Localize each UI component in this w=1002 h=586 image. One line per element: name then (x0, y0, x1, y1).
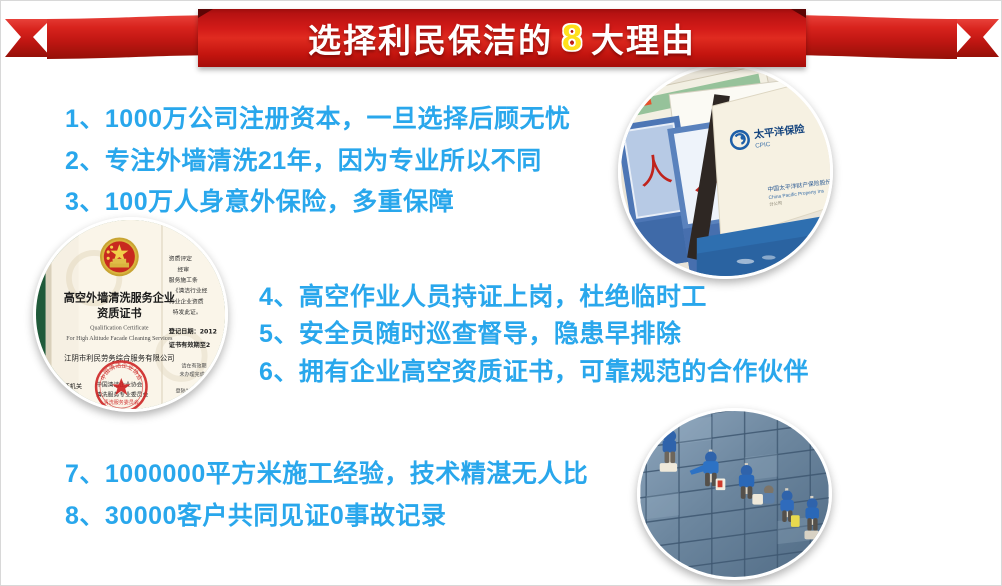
banner-title-number: 8 (557, 17, 587, 59)
banner-title-suffix: 大理由 (591, 14, 696, 62)
benefit-index-8: 8、 (65, 502, 105, 530)
title-banner: 选择利民保洁的 8 大理由 (1, 5, 1002, 77)
svg-text:行业企业资质: 行业企业资质 (169, 297, 204, 305)
svg-text:证书有效期至2: 证书有效期至2 (169, 341, 210, 349)
svg-text:发证机关: 发证机关 (57, 383, 82, 391)
photo-insurance-documents: 人 人 太平洋保险 CPIC 中国太平洋财产保险股份 (618, 64, 833, 279)
benefit-item-7: 7、1000000平方米施工经验，技术精湛无人比 (65, 454, 588, 490)
benefit-item-6: 6、拥有企业高空资质证书，可靠规范的合作伙伴 (259, 352, 809, 388)
svg-text:经审: 经审 (178, 265, 190, 273)
benefit-index-4: 4、 (259, 283, 299, 311)
benefit-index-3: 3、 (65, 188, 105, 216)
benefit-item-5: 5、安全员随时巡查督导，隐患早排除 (259, 314, 681, 350)
svg-text:Qualification Certificate: Qualification Certificate (90, 325, 149, 332)
svg-text:资质评定: 资质评定 (169, 255, 192, 263)
benefit-text-7: 1000000平方米施工经验，技术精湛无人比 (105, 460, 588, 488)
svg-text:For High Altitude Facade Clean: For High Altitude Facade Cleaning Servic… (66, 336, 173, 342)
benefit-item-8: 8、30000客户共同见证0事故记录 (65, 496, 446, 532)
benefit-text-1: 1000万公司注册资本，一旦选择后顾无忧 (105, 105, 571, 133)
benefit-index-2: 2、 (65, 147, 105, 175)
svg-text:未办理完成。: 未办理完成。 (179, 371, 209, 378)
benefit-item-2: 2、专注外墙清洗21年，因为专业所以不同 (65, 141, 542, 177)
banner-title-prefix: 选择利民保洁的 (308, 14, 553, 62)
benefit-text-2: 专注外墙清洗21年，因为专业所以不同 (105, 147, 542, 175)
benefit-text-8: 30000客户共同见证0事故记录 (105, 502, 446, 530)
benefit-item-3: 3、100万人身意外保险，多重保障 (65, 182, 454, 218)
svg-text:登记日期：2012: 登记日期：2012 (168, 327, 217, 335)
benefit-item-1: 1、1000万公司注册资本，一旦选择后顾无忧 (65, 99, 571, 135)
svg-text:人: 人 (636, 149, 675, 193)
svg-text:特发此证。: 特发此证。 (173, 308, 202, 316)
benefit-item-4: 4、高空作业人员持证上岗，杜绝临时工 (259, 277, 707, 313)
svg-text:服务施工条: 服务施工条 (169, 276, 198, 284)
photo-qualification-certificate: 高空外墙清洗服务企业 资质证书 Qualification Certificat… (33, 217, 228, 412)
svg-text:登陆"中: 登陆"中 (176, 388, 193, 395)
svg-text:高空外墙清洗服务企业: 高空外墙清洗服务企业 (64, 290, 175, 304)
benefit-text-4: 高空作业人员持证上岗，杜绝临时工 (299, 283, 707, 311)
benefit-index-5: 5、 (259, 320, 299, 348)
svg-text:资质证书: 资质证书 (97, 306, 142, 320)
photo-facade-workers (637, 408, 832, 580)
banner-title: 选择利民保洁的 8 大理由 (198, 9, 806, 67)
svg-text:网址: 网址 (179, 396, 189, 403)
svg-text:请在有效期: 请在有效期 (181, 362, 206, 369)
benefit-index-6: 6、 (259, 358, 299, 386)
promo-poster: 选择利民保洁的 8 大理由 1、1000万公司注册资本，一旦选择后顾无忧 2、专… (0, 0, 1002, 586)
svg-text:清洗服务委员会: 清洗服务委员会 (104, 399, 139, 406)
benefit-index-7: 7、 (65, 460, 105, 488)
svg-text:《清洁行业经: 《清洁行业经 (173, 287, 208, 295)
benefit-index-1: 1、 (65, 105, 105, 133)
benefit-text-3: 100万人身意外保险，多重保障 (105, 188, 454, 216)
benefit-text-5: 安全员随时巡查督导，隐患早排除 (299, 320, 682, 348)
benefit-text-6: 拥有企业高空资质证书，可靠规范的合作伙伴 (299, 358, 809, 386)
